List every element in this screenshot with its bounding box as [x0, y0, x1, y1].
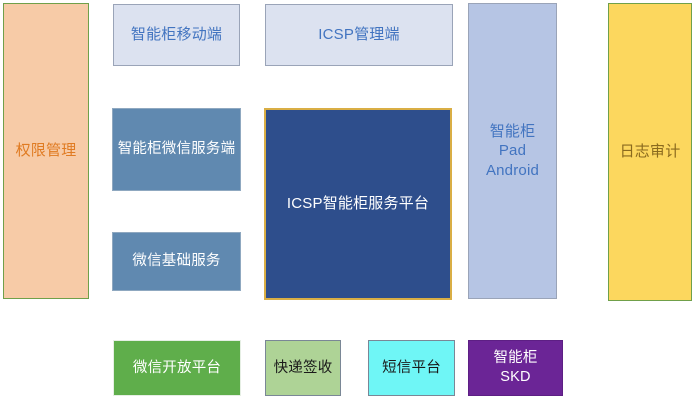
node-label-sms-platform: 短信平台: [382, 359, 441, 378]
node-label-icsp-admin-client: ICSP管理端: [318, 25, 399, 44]
node-icsp-admin-client[interactable]: ICSP管理端: [265, 4, 453, 66]
node-sms-platform[interactable]: 短信平台: [368, 340, 455, 396]
architecture-diagram-canvas: 权限管理 智能柜移动端 ICSP管理端 智能柜 Pad Android 日志审计…: [0, 0, 695, 407]
node-icsp-cabinet-platform[interactable]: ICSP智能柜服务平台: [264, 108, 452, 300]
node-label-icsp-cabinet-platform: ICSP智能柜服务平台: [287, 194, 429, 213]
node-cabinet-wechat-service[interactable]: 智能柜微信服务端: [112, 108, 241, 191]
node-label-cabinet-pad-android: 智能柜 Pad Android: [486, 122, 539, 180]
node-cabinet-mobile-client[interactable]: 智能柜移动端: [113, 4, 240, 66]
node-label-log-audit: 日志审计: [620, 142, 681, 161]
node-cabinet-skd[interactable]: 智能柜 SKD: [468, 340, 563, 396]
node-auth-management[interactable]: 权限管理: [3, 3, 89, 299]
node-label-cabinet-skd: 智能柜 SKD: [493, 349, 537, 386]
node-label-wechat-open-platform: 微信开放平台: [133, 359, 221, 378]
node-log-audit[interactable]: 日志审计: [608, 3, 692, 301]
node-label-cabinet-mobile-client: 智能柜移动端: [131, 25, 222, 44]
node-wechat-open-platform[interactable]: 微信开放平台: [113, 340, 241, 396]
node-label-cabinet-wechat-service: 智能柜微信服务端: [118, 140, 236, 159]
node-label-express-signing: 快递签收: [274, 359, 333, 378]
node-cabinet-pad-android[interactable]: 智能柜 Pad Android: [468, 3, 557, 299]
node-wechat-basic-service[interactable]: 微信基础服务: [112, 232, 241, 291]
node-label-wechat-basic-service: 微信基础服务: [132, 252, 220, 271]
node-label-auth-management: 权限管理: [16, 141, 77, 160]
node-express-signing[interactable]: 快递签收: [265, 340, 341, 396]
